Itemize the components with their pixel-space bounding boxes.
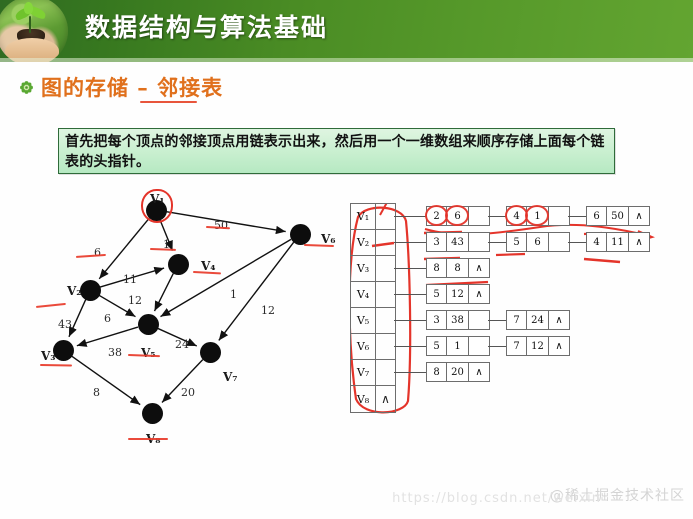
vertex-array-label: V₃ [351,256,376,281]
graph-node-label-v7: V₇ [223,370,238,384]
adjacency-link-line [568,242,586,243]
graph-node-v2 [80,280,101,301]
adjacency-list-structure: V₁V₂V₃V₄V₅V₆V₇V₈∧ 2641650∧34356411∧88∧51… [350,203,686,418]
adjacency-node-weight: 1 [447,337,469,355]
vertex-array-label: V₅ [351,308,376,333]
adjacency-link-line [394,372,426,373]
adjacency-node-null: ∧ [469,363,489,381]
vertex-array-label: V₆ [351,334,376,359]
graph-node-label-v5: V₅ [141,346,156,360]
adjacency-node-cell: 512∧ [426,284,490,304]
graph-node-v8 [142,403,163,424]
adjacency-link-line [394,320,426,321]
adjacency-node-cell: 88∧ [426,258,490,278]
adjacency-node-weight: 6 [527,233,549,251]
adjacency-node-null: ∧ [629,233,649,251]
adjacency-node-weight: 43 [447,233,469,251]
adjacency-link-line [394,346,426,347]
adjacency-node-index: 5 [427,337,447,355]
vertex-array-head-pointer [376,308,395,333]
graph-edge-weight-v7-v8: 20 [181,386,195,399]
adjacency-node-next [469,233,489,251]
adjacency-node-null: ∧ [469,285,489,303]
graph-edge-v5-v3 [77,327,138,346]
vertex-array-head-pointer [376,334,395,359]
adjacency-node-cell: 338 [426,310,490,330]
graph-red-underline-9 [128,438,168,440]
vertex-array-row: V₈∧ [351,386,395,412]
description-text: 首先把每个顶点的邻接顶点用链表示出来，然后用一个一维数组来顺序存储上面每个链表的… [65,132,613,172]
adjacency-node-null: ∧ [629,207,649,225]
vertex-array-row: V₆ [351,334,395,360]
graph-node-label-v3: V₃ [41,349,56,363]
adjacency-link-line [394,242,426,243]
vertex-array-column: V₁V₂V₃V₄V₅V₆V₇V₈∧ [350,203,396,413]
vertex-array-head-pointer [376,282,395,307]
graph-edge-weight-v1-v2: 6 [94,246,101,259]
adjacency-node-next [469,337,489,355]
vertex-array-label: V₂ [351,230,376,255]
adjacency-node-null: ∧ [549,311,569,329]
vertex-array-row: V₅ [351,308,395,334]
slide-header-banner: 数据结构与算法基础 [0,0,693,62]
vertex-array-label: V₇ [351,360,376,385]
slide-title: 数据结构与算法基础 [85,8,328,44]
adjacency-node-weight: 11 [607,233,629,251]
graph-edge-v3-v8 [72,356,141,405]
title-red-underline [140,101,197,103]
adjacency-link-line [488,320,506,321]
graph-node-v4 [168,254,189,275]
vertex-array-row: V₄ [351,282,395,308]
adjacency-node-index: 3 [427,311,447,329]
adjacency-node-null: ∧ [469,259,489,277]
graph-edge-weight-v2-v5: 6 [104,312,111,325]
vertex-array-head-pointer: ∧ [376,386,395,412]
adjacency-node-cell: 51 [426,336,490,356]
graph-edge-weight-v2-v4: 11 [123,273,137,286]
adjacency-node-weight: 20 [447,363,469,381]
adjacency-node-cell: 712∧ [506,336,570,356]
graph-node-label-v2: V₂ [67,284,82,298]
vertex-array-label: V₁ [351,204,376,229]
graph-edge-v4-v5 [154,273,173,311]
vertex-array-row: V₃ [351,256,395,282]
vertex-array-head-pointer [376,230,395,255]
adjacency-node-index: 8 [427,363,447,381]
adjacency-node-weight: 12 [447,285,469,303]
adjacency-link-line [568,216,586,217]
graph-edge-weight-v4-v5: 12 [128,294,142,307]
adjacency-node-index: 7 [507,311,527,329]
graph-edge-weight-v5-v7: 24 [175,338,189,351]
adjacency-node-next [469,207,489,225]
adjacency-link-line [394,294,426,295]
adjacency-node-index: 3 [427,233,447,251]
vertex-array-label: V₈ [351,386,376,412]
adjacency-node-cell: 411∧ [586,232,650,252]
adjacency-node-weight: 24 [527,311,549,329]
adjacency-node-weight: 12 [527,337,549,355]
graph-edge-weight-v1-v6: 50 [214,219,228,232]
adjacency-node-cell: 724∧ [506,310,570,330]
adjacency-node-next [549,207,569,225]
watermark-url: https://blog.csdn.net/weixin [392,491,601,506]
adjacency-node-index: 8 [427,259,447,277]
flower-bullet-icon [20,81,33,94]
vertex-array-row: V₁ [351,204,395,230]
adjacency-node-index: 4 [587,233,607,251]
adjacency-node-weight: 8 [447,259,469,277]
adjacency-link-line [488,346,506,347]
graph-node-v6 [290,224,311,245]
vertex-array-head-pointer [376,256,395,281]
adjacency-node-next [549,233,569,251]
adjacency-node-weight: 50 [607,207,629,225]
vertex-array-row: V₂ [351,230,395,256]
description-callout-box: 首先把每个顶点的邻接顶点用链表示出来，然后用一个一维数组来顺序存储上面每个链表的… [58,128,615,174]
adjacency-node-next [469,311,489,329]
adjacency-node-null: ∧ [549,337,569,355]
adjacency-node-index: 6 [587,207,607,225]
adjacency-node-cell: 820∧ [426,362,490,382]
page-title: 图的存储 – 邻接表 [41,72,223,102]
graph-v1-red-highlight-loop [141,189,173,223]
adjacency-link-line [488,216,506,217]
graph-node-v7 [200,342,221,363]
adjacency-node-index: 7 [507,337,527,355]
graph-edge-weight-v5-v3: 38 [108,346,122,359]
seedling-photo-icon [0,0,68,62]
graph-edge-v1-v2 [99,218,149,279]
adjacency-node-cell: 56 [506,232,570,252]
adjacency-circled-value [445,205,469,226]
vertex-array-head-pointer [376,360,395,385]
adjacency-node-cell: 343 [426,232,490,252]
vertex-array-label: V₄ [351,282,376,307]
adjacency-node-index: 5 [427,285,447,303]
graph-edge-weight-v2-v3: 43 [58,318,72,331]
adjacency-node-weight: 38 [447,311,469,329]
graph-node-v5 [138,314,159,335]
vertex-array-head-pointer [376,204,395,229]
adjacency-node-cell: 650∧ [586,206,650,226]
vertex-array-row: V₇ [351,360,395,386]
adjacency-node-index: 5 [507,233,527,251]
adjacency-link-line [394,216,426,217]
slide-canvas: 数据结构与算法基础 图的存储 – 邻接表 首先把每个顶点的邻接顶点用链表示出来，… [0,0,693,519]
graph-edge-weight-v3-v8: 8 [93,386,100,399]
adjacency-link-line [394,268,426,269]
adjacency-circled-value [525,205,549,226]
adjacency-link-line [488,242,506,243]
graph-edge-weight-v6-v7: 12 [261,304,275,317]
graph-edge-weight-v6-v5: 1 [230,288,237,301]
weighted-digraph-diagram: V₁V₂V₃V₄V₅V₆V₇V₈615011643123824112820 [18,186,348,456]
